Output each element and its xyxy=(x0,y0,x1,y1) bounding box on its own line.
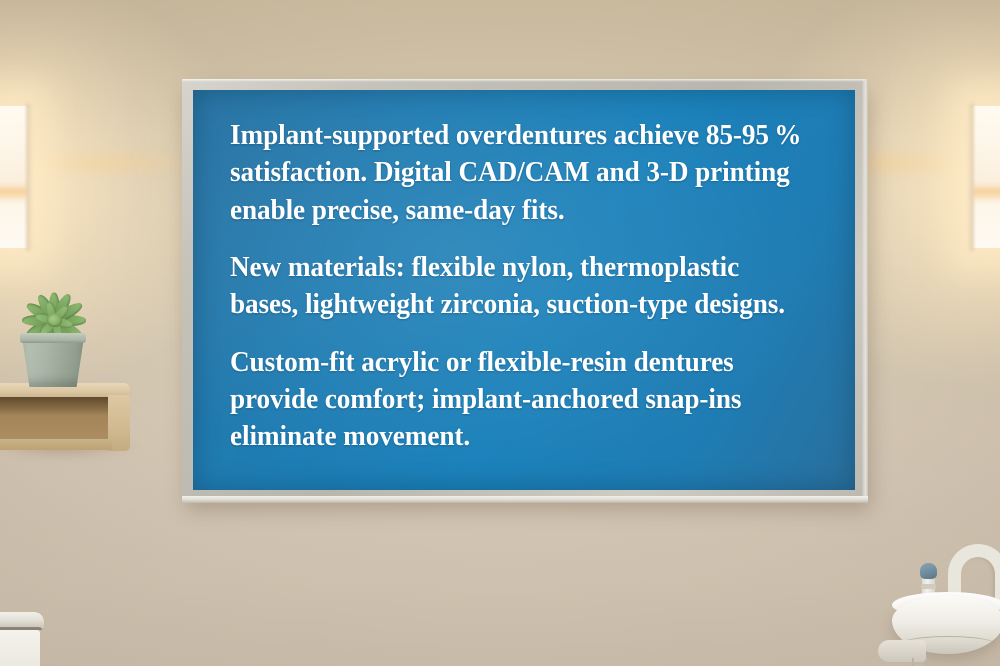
frame-bottom-highlight xyxy=(182,496,868,503)
counter-cabinet xyxy=(0,612,44,666)
board-text-block: Implant-supported overdentures achieve 8… xyxy=(230,117,833,456)
sconce-left-rim xyxy=(26,103,33,251)
sconce-right-warm-band xyxy=(972,184,1000,200)
sink-support-leg xyxy=(912,658,914,666)
sink-pipe xyxy=(878,640,926,662)
board-surface: Implant-supported overdentures achieve 8… xyxy=(193,90,855,490)
board-paragraph-3: Custom-fit acrylic or flexible-resin den… xyxy=(230,344,806,456)
cabinet-top-surface xyxy=(0,612,44,628)
sconce-left-warm-band xyxy=(0,184,28,200)
board-paragraph-1: Implant-supported overdentures achieve 8… xyxy=(230,117,806,229)
board-frame: Implant-supported overdentures achieve 8… xyxy=(182,79,868,503)
faucet-handle-ring xyxy=(921,584,936,589)
plant-pot xyxy=(22,337,84,387)
shelf-bottom-panel xyxy=(0,439,112,450)
frame-right-highlight xyxy=(862,79,868,503)
sink-basin xyxy=(886,544,1000,666)
wall-sconce-right xyxy=(972,106,1000,248)
floating-wood-shelf xyxy=(0,383,130,449)
board-paragraph-2: New materials: flexible nylon, thermopla… xyxy=(230,249,806,324)
sconce-left-light-spill xyxy=(10,150,200,176)
cabinet-body xyxy=(0,630,40,666)
plant-pot-rim xyxy=(20,333,86,343)
frame-top-highlight xyxy=(182,79,868,82)
sink-support-leg-2 xyxy=(926,658,928,666)
faucet-handle-cap xyxy=(920,563,937,579)
room-photo-scene: Implant-supported overdentures achieve 8… xyxy=(0,0,1000,666)
shelf-inner-shadow xyxy=(0,397,108,415)
sconce-right-rim xyxy=(967,103,974,251)
wall-sconce-left xyxy=(0,106,28,248)
